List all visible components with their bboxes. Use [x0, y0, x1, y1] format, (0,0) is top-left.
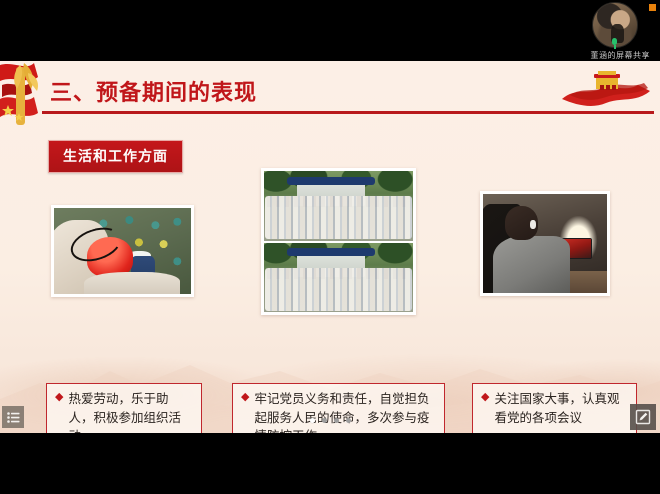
caption-text-2: 牢记党员义务和责任，自觉担负起服务人民的使命，多次参与疫情防控工作: [254, 390, 435, 433]
slide-title: 三、预备期间的表现: [50, 75, 257, 107]
pagination-dot-4[interactable]: [346, 418, 351, 423]
annotate-pen-button[interactable]: [630, 404, 656, 430]
shared-slide[interactable]: 三、预备期间的表现 生活和工作方面: [0, 61, 660, 433]
slide-photo-volunteer-cleanup: [51, 205, 194, 297]
caption-text-1: 热爱劳动，乐于助人，积极参加组织活动: [68, 390, 192, 433]
pagination-dot-2[interactable]: [322, 418, 327, 423]
recording-indicator: [649, 4, 656, 11]
caption-box-2: ◆ 牢记党员义务和责任，自觉担负起服务人民的使命，多次参与疫情防控工作: [232, 383, 445, 433]
bottom-control-bar: [0, 433, 660, 494]
slide-list-button[interactable]: [2, 406, 24, 428]
top-video-bar: 董涵的屏幕共享: [0, 0, 660, 61]
diamond-bullet-icon: ◆: [241, 390, 249, 406]
caption-box-1: ◆ 热爱劳动，乐于助人，积极参加组织活动: [46, 383, 202, 433]
header-rule: [42, 111, 654, 114]
screen-share-window: 董涵的屏幕共享: [0, 0, 660, 494]
slide-photo-watching-meeting: [480, 191, 610, 296]
pen-icon: [635, 409, 651, 425]
list-icon: [7, 412, 20, 423]
torch-wheat-emblem-icon: [0, 61, 46, 131]
avatar-mic-icon: [610, 38, 619, 50]
caption-box-3: ◆ 关注国家大事，认真观看党的各项会议: [472, 383, 637, 433]
slide-pagination[interactable]: [0, 418, 660, 423]
diamond-bullet-icon: ◆: [481, 390, 489, 406]
pagination-dot-3[interactable]: [334, 418, 339, 423]
slide-sub-banner: 生活和工作方面: [48, 140, 183, 173]
slide-header: 三、预备期间的表现: [0, 61, 660, 131]
diamond-bullet-icon: ◆: [55, 390, 63, 406]
pagination-dot-1[interactable]: [310, 418, 315, 423]
slide-photo-group-volunteers: [261, 168, 416, 315]
screen-share-label: 董涵的屏幕共享: [591, 50, 651, 61]
tiananmen-gate-emblem-icon: [560, 65, 652, 111]
